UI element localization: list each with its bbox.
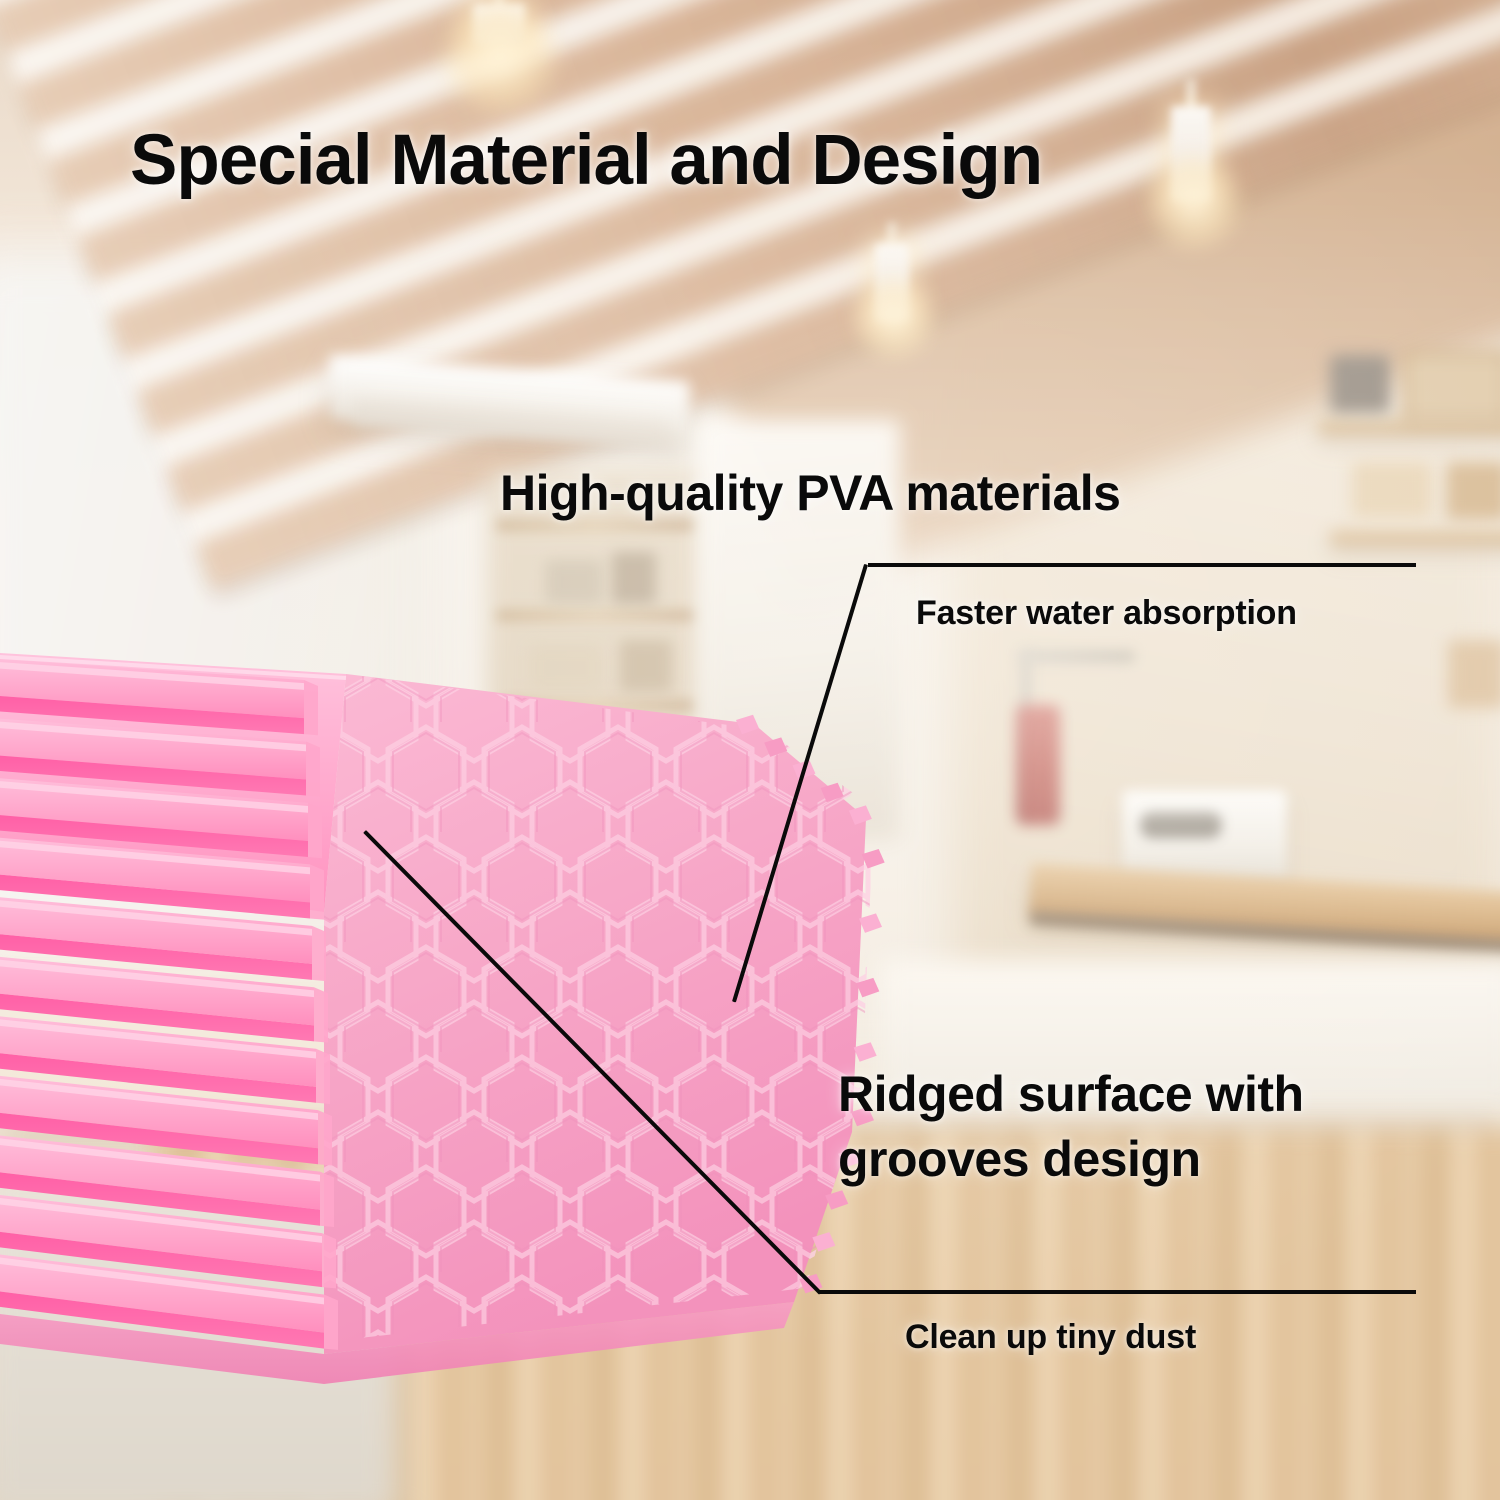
callout-surface-rule (820, 1290, 1416, 1294)
callout-surface-subtext: Clean up tiny dust (905, 1318, 1196, 1357)
infographic-canvas: Special Material and Design High-quality… (0, 0, 1500, 1500)
sponge-ridge-endcap (322, 1233, 336, 1288)
sponge-ridge-endcap (312, 926, 326, 981)
sponge-ridge-endcap (310, 864, 324, 919)
callout-surface-heading: Ridged surface with grooves design (838, 1062, 1458, 1192)
sponge-ridge-endcap (314, 987, 328, 1042)
sponge-ridge-endcap (304, 680, 318, 735)
sponge-ridge-endcap (306, 741, 320, 796)
sponge-ridge-endcap (308, 803, 322, 858)
sponge-ridge-endcap (316, 1049, 330, 1104)
callout-material-heading: High-quality PVA materials (500, 464, 1120, 522)
callout-material-subtext: Faster water absorption (916, 594, 1297, 633)
sponge-ridge-endcap (318, 1110, 332, 1165)
callout-material-rule (868, 563, 1416, 567)
sponge-ridge-endcap (320, 1172, 334, 1227)
product-sponge (0, 612, 954, 1372)
page-title: Special Material and Design (130, 120, 1042, 201)
sponge-ridge-endcap (324, 1295, 338, 1350)
